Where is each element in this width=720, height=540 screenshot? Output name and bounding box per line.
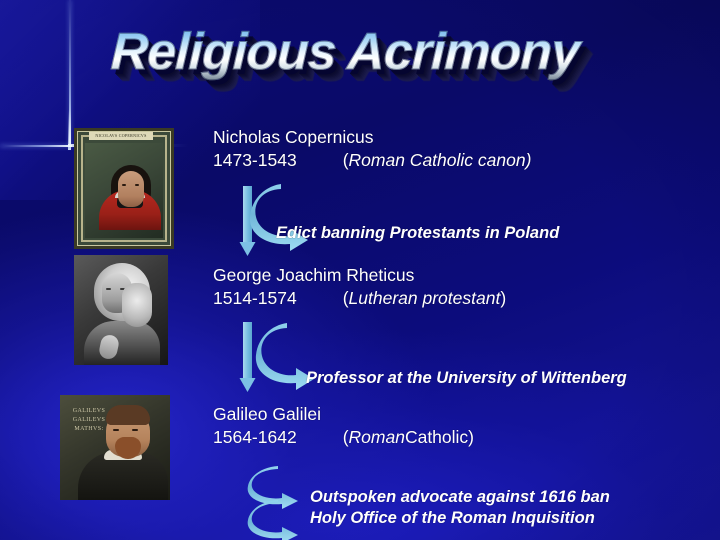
person-name-galileo: Galileo Galilei bbox=[213, 403, 474, 426]
rheticus-dates-value: 1514-1574 bbox=[213, 288, 297, 308]
galileo-eye-left bbox=[113, 429, 119, 431]
curved-arrow-icon-1 bbox=[250, 183, 360, 261]
person-dates-galileo: 1564-1642(RomanCatholic) bbox=[213, 426, 474, 449]
rheticus-coat bbox=[84, 321, 160, 365]
galileo-dates-value: 1564-1642 bbox=[213, 427, 297, 447]
slide-title: Religious Acrimony Religious Acrimony bbox=[95, 22, 595, 98]
note-outspoken: Outspoken advocate against 1616 ban bbox=[310, 487, 610, 508]
copernicus-dates-value: 1473-1543 bbox=[213, 150, 297, 170]
person-block-galileo: Galileo Galilei 1564-1642(RomanCatholic) bbox=[213, 403, 474, 449]
person-dates-copernicus: 1473-1543(Roman Catholic canon) bbox=[213, 149, 531, 172]
portrait-copernicus: NICOLAVS COPERNICVS bbox=[74, 128, 174, 249]
copernicus-affiliation: Roman Catholic canon bbox=[349, 150, 526, 170]
galileo-hair bbox=[106, 405, 150, 425]
portrait-galileo: GALILEVS GALILEVS MATHVS: bbox=[60, 395, 170, 500]
note-holy-office: Holy Office of the Roman Inquisition bbox=[310, 508, 595, 529]
portrait-rheticus bbox=[74, 255, 168, 365]
galileo-inscription: GALILEVS GALILEVS MATHVS: bbox=[66, 407, 112, 434]
copernicus-name-plaque: NICOLAVS COPERNICVS bbox=[89, 132, 153, 140]
galileo-affiliation-plain: Catholic) bbox=[405, 427, 474, 447]
presentation-slide: Religious Acrimony Religious Acrimony NI… bbox=[0, 0, 720, 540]
note-edict: Edict banning Protestants in Poland bbox=[276, 223, 559, 244]
rheticus-affiliation: Lutheran protestant bbox=[349, 288, 501, 308]
person-block-rheticus: George Joachim Rheticus 1514-1574(Luther… bbox=[213, 264, 506, 310]
rheticus-paren-close: ) bbox=[500, 288, 506, 308]
copernicus-frame bbox=[81, 135, 167, 242]
person-name-copernicus: Nicholas Copernicus bbox=[213, 126, 531, 149]
copernicus-paren-close: ) bbox=[526, 150, 532, 170]
galileo-eye-right bbox=[132, 429, 138, 431]
galileo-affiliation-italic: Roman bbox=[349, 427, 405, 447]
person-block-copernicus: Nicholas Copernicus 1473-1543(Roman Cath… bbox=[213, 126, 531, 172]
rheticus-wig-curl bbox=[122, 283, 152, 327]
rheticus-eye-left bbox=[106, 288, 111, 290]
person-name-rheticus: George Joachim Rheticus bbox=[213, 264, 506, 287]
person-dates-rheticus: 1514-1574(Lutheran protestant) bbox=[213, 287, 506, 310]
slide-title-text: Religious Acrimony bbox=[94, 22, 596, 82]
copernicus-plaque-text: NICOLAVS COPERNICVS bbox=[89, 132, 153, 140]
note-professor: Professor at the University of Wittenber… bbox=[306, 368, 627, 389]
